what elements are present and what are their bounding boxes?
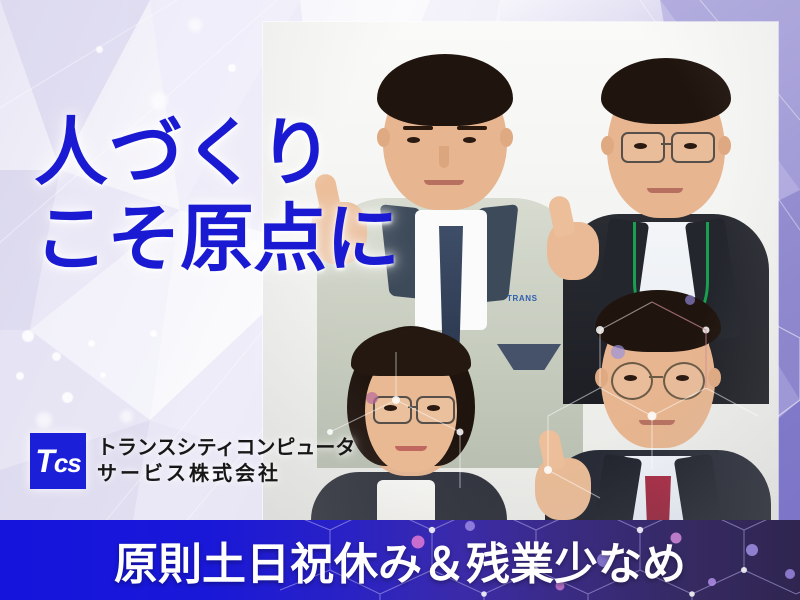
bokeh-dot [62, 392, 73, 403]
eye-right [676, 375, 689, 381]
bokeh-dot [22, 330, 34, 342]
ear-right [500, 128, 513, 147]
bokeh-dot [36, 412, 52, 428]
hair [595, 290, 721, 352]
ear-left [601, 136, 614, 155]
headline-line-1: 人づくり [34, 116, 399, 190]
ear-right [718, 136, 731, 155]
bokeh-dot [16, 372, 24, 380]
eyeglasses-left-lens-round [611, 362, 653, 400]
bokeh-dot [188, 18, 202, 32]
thumbs-up-gesture [547, 222, 599, 280]
hair [601, 58, 731, 124]
person-woman-glasses-bob [311, 322, 511, 520]
nose [439, 146, 449, 168]
company-name: トランスシティコンピュータ サービス株式会社 [97, 437, 355, 484]
thumbs-up-gesture [535, 458, 591, 520]
mouth [639, 420, 675, 425]
company-name-line-1: トランスシティコンピュータ [97, 437, 355, 459]
tcs-logo-t: T [35, 443, 54, 479]
eye-right [463, 137, 476, 143]
tcs-logo-text: Tcs [35, 445, 80, 477]
eye-right [684, 143, 697, 149]
necktie-red [645, 476, 671, 520]
company-logo-lockup: Tcs トランスシティコンピュータ サービス株式会社 [30, 433, 355, 489]
mouth [424, 180, 464, 185]
eyeglasses-bridge [408, 406, 416, 408]
bokeh-dot [88, 340, 95, 347]
eyeglasses-bridge [661, 143, 671, 145]
ear-right [708, 368, 721, 387]
bokeh-dot [52, 352, 61, 361]
person-man-round-glasses-red-tie [545, 280, 775, 520]
headline-line-2: こそ原点に [34, 202, 399, 276]
mouth [647, 188, 683, 193]
bokeh-dot [100, 372, 106, 378]
tcs-logo-mark: Tcs [30, 433, 86, 489]
hair-fringe [351, 328, 471, 376]
eyeglasses-bridge [649, 376, 663, 378]
headline: 人づくり こそ原点に [34, 116, 399, 276]
eye-right [427, 405, 440, 411]
eyeglasses-right-lens-round [663, 362, 705, 400]
ear-left [595, 368, 608, 387]
eye-left [634, 143, 647, 149]
bokeh-dot [228, 64, 236, 72]
banner-headline: 原則土日祝休み＆残業少なめ [0, 528, 800, 592]
company-name-line-2: サービス株式会社 [97, 463, 355, 485]
bokeh-dot [120, 410, 133, 423]
jacket-badge-text: TRANS [507, 294, 538, 303]
bottom-banner: 原則土日祝休み＆残業少なめ [0, 520, 800, 600]
inner-top [377, 480, 435, 520]
eye-left [407, 137, 420, 143]
eye-left [624, 375, 637, 381]
recruitment-banner-ad: TRANS [0, 0, 800, 600]
bokeh-dot [96, 46, 103, 53]
brow-left [403, 126, 433, 130]
brow-right [457, 126, 487, 130]
tcs-logo-cs: cs [54, 448, 81, 478]
eye-left [384, 405, 397, 411]
bokeh-dot [150, 330, 157, 337]
bokeh-dot [150, 92, 168, 110]
mouth [395, 446, 427, 451]
